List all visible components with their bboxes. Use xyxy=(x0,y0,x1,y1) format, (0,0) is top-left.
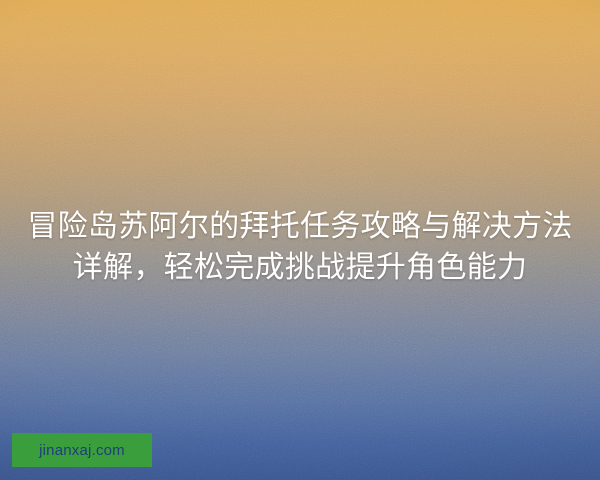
banner-card: 冒险岛苏阿尔的拜托任务攻略与解决方法 详解，轻松完成挑战提升角色能力 jinan… xyxy=(0,0,600,480)
page-title: 冒险岛苏阿尔的拜托任务攻略与解决方法 详解，轻松完成挑战提升角色能力 xyxy=(0,206,600,288)
title-text: 冒险岛苏阿尔的拜托任务攻略与解决方法 详解，轻松完成挑战提升角色能力 xyxy=(18,206,582,288)
watermark-badge: jinanxaj.com xyxy=(12,433,152,467)
watermark-label: jinanxaj.com xyxy=(39,443,125,458)
